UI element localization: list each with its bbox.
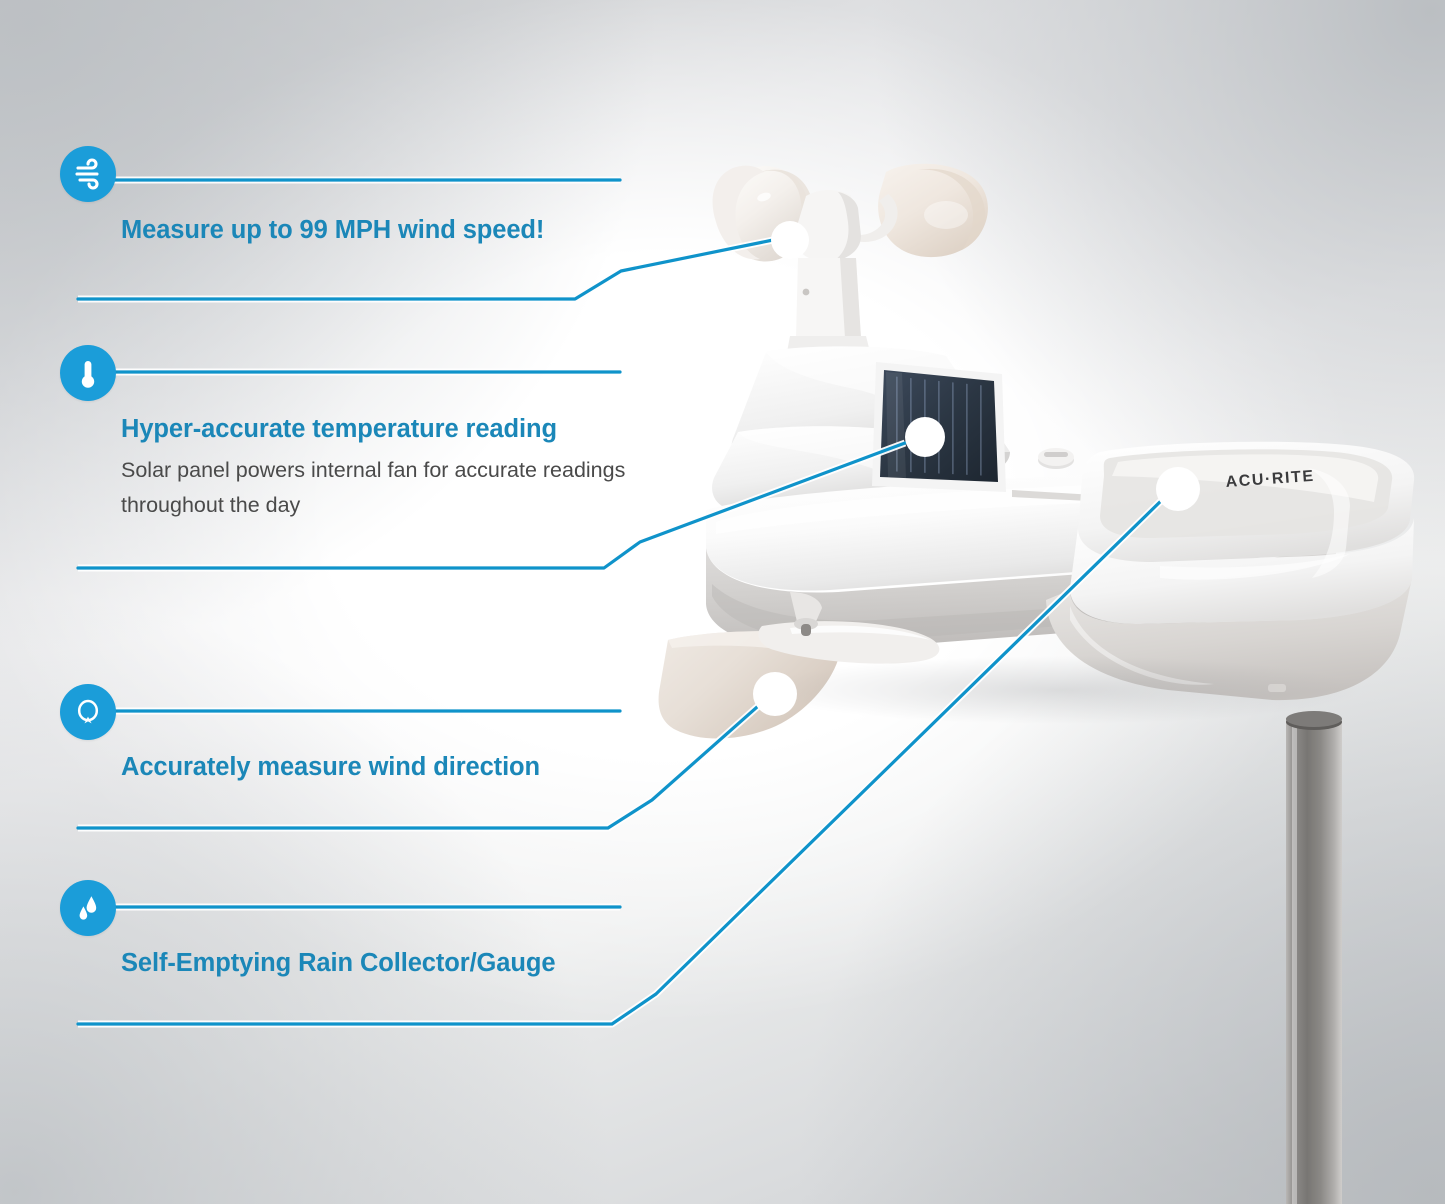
callout-wind-direction: Accurately measure wind direction bbox=[121, 753, 540, 782]
wind-icon bbox=[60, 146, 116, 202]
infographic-canvas: ACU·RITE bbox=[0, 0, 1445, 1204]
callout-rain-gauge: Self-Emptying Rain Collector/Gauge bbox=[121, 949, 555, 978]
callout-temperature-body: Solar panel powers internal fan for accu… bbox=[121, 453, 661, 523]
thermometer-icon-glyph bbox=[71, 356, 105, 390]
wind-icon-glyph bbox=[71, 157, 105, 191]
raindrops-icon-glyph bbox=[71, 891, 105, 925]
raindrops-icon bbox=[60, 880, 116, 936]
callout-temperature: Hyper-accurate temperature reading Solar… bbox=[121, 415, 661, 523]
thermometer-icon bbox=[60, 345, 116, 401]
callout-temperature-heading: Hyper-accurate temperature reading bbox=[121, 415, 661, 444]
callout-wind-speed-heading: Measure up to 99 MPH wind speed! bbox=[121, 216, 544, 245]
wind-direction-icon-glyph bbox=[71, 695, 105, 729]
callout-rain-gauge-heading: Self-Emptying Rain Collector/Gauge bbox=[121, 949, 555, 978]
wind-direction-icon bbox=[60, 684, 116, 740]
callout-wind-speed: Measure up to 99 MPH wind speed! bbox=[121, 216, 544, 245]
callout-wind-direction-heading: Accurately measure wind direction bbox=[121, 753, 540, 782]
